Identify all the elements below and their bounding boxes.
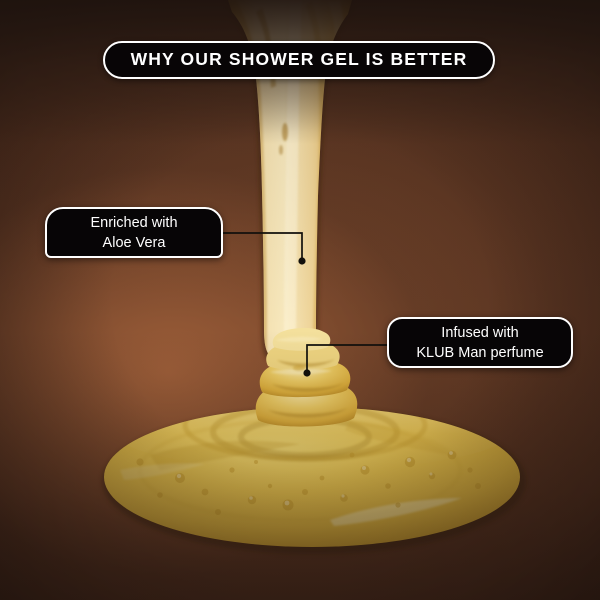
leader-line-perfume: [307, 345, 387, 370]
promo-graphic: WHY OUR SHOWER GEL IS BETTER Enriched wi…: [0, 0, 600, 600]
callout-aloe-vera: Enriched with Aloe Vera: [45, 207, 223, 258]
headline-banner: WHY OUR SHOWER GEL IS BETTER: [103, 41, 495, 79]
headline-text: WHY OUR SHOWER GEL IS BETTER: [131, 51, 468, 69]
callout-aloe-line1: Enriched with: [90, 213, 177, 233]
callout-leader-lines: [0, 0, 600, 600]
callout-perfume-line1: Infused with: [441, 323, 518, 343]
callout-perfume-line2: KLUB Man perfume: [416, 343, 543, 363]
leader-dot-perfume: [303, 369, 310, 376]
leader-line-aloe: [222, 233, 302, 258]
callout-klub-man-perfume: Infused with KLUB Man perfume: [387, 317, 573, 368]
leader-dot-aloe: [298, 257, 305, 264]
callout-aloe-line2: Aloe Vera: [103, 233, 166, 253]
